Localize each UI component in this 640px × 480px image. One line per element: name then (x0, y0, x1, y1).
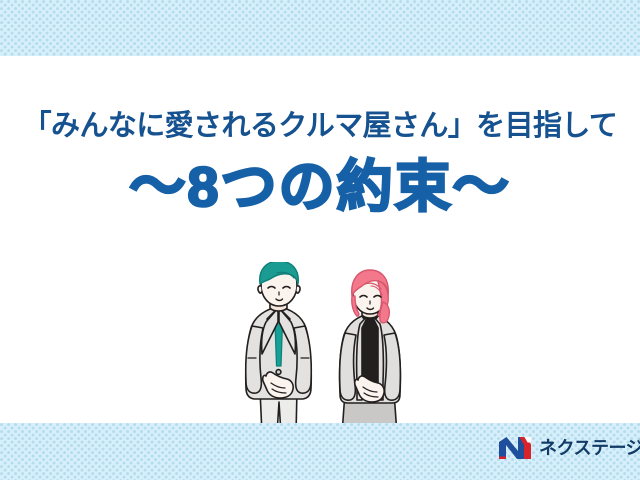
two-staff-bowing-illustration (236, 262, 416, 434)
male-staff-figure (246, 262, 312, 434)
promo-banner: 「みんなに愛されるクルマ屋さん」を目指して 〜8つの約束〜 (0, 0, 640, 480)
headline-subtitle: 「みんなに愛されるクルマ屋さん」を目指して (0, 112, 640, 141)
top-dot-band (0, 0, 640, 56)
headline-title: 〜8つの約束〜 (0, 159, 640, 215)
brand-wordmark: ネクステージ (539, 439, 640, 457)
female-staff-figure (340, 270, 401, 434)
nextage-n-logo-icon (498, 436, 532, 460)
headline-block: 「みんなに愛されるクルマ屋さん」を目指して 〜8つの約束〜 (0, 112, 640, 215)
brand-logo: ネクステージ (498, 436, 640, 460)
